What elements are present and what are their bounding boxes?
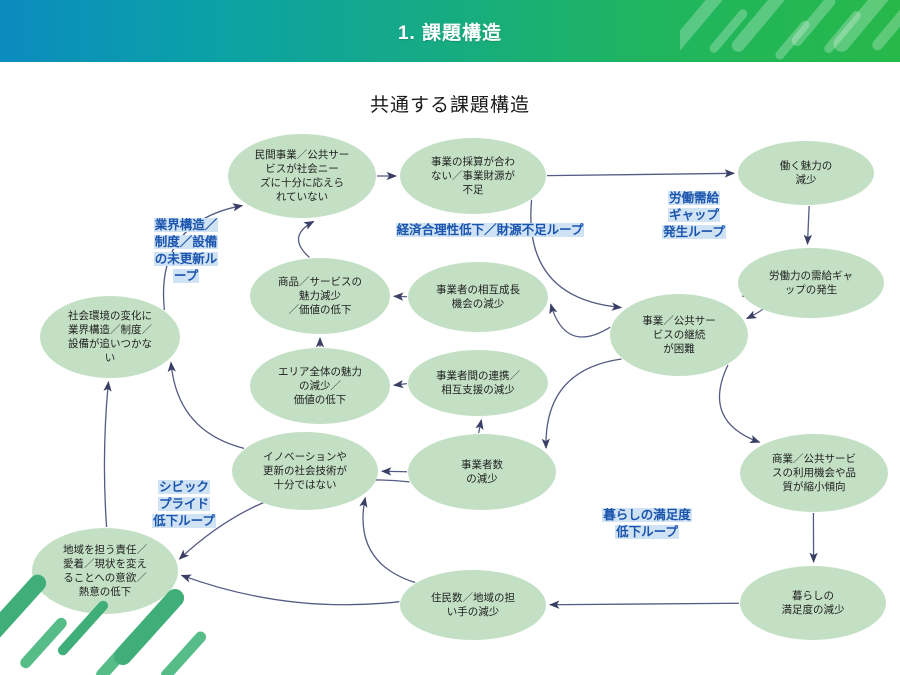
loop-label-satisfaction: 暮らしの満足度低下ループ: [582, 507, 712, 541]
diagram-edge: [104, 382, 108, 527]
diagram-node-industry_lag[interactable]: 社会環境の変化に 業界構造／制度／ 設備が追いつかな い: [40, 296, 180, 378]
diagram-node-service_access[interactable]: 商業／公共サービ スの利用機会や品 質が縮小傾向: [740, 434, 888, 512]
diagram-edge: [171, 362, 244, 448]
diagram-node-civic_pride[interactable]: 地域を担う責任／ 愛着／現状を変え ることへの意欲／ 熱意の低下: [32, 528, 178, 614]
diagram-edge: [299, 221, 314, 257]
loop-label-econ_finance: 経済合理性低下／財源不足ループ: [370, 222, 610, 239]
diagram-edge: [382, 471, 407, 472]
loop-label-civic_pride: シビックプライド低下ループ: [140, 479, 228, 530]
diagram-edge: [546, 359, 622, 448]
diagram-edge: [479, 420, 482, 433]
diagram-edge: [808, 206, 810, 244]
diagram-edge: [363, 498, 415, 583]
diagram-edge: [182, 575, 400, 604]
diagram-edge: [394, 296, 407, 297]
diagram-edge: [394, 384, 407, 386]
diagram-node-satisfaction[interactable]: 暮らしの 満足度の減少: [740, 566, 886, 640]
diagram-node-operator_count[interactable]: 事業者数 の減少: [408, 434, 556, 510]
diagram-edge: [550, 603, 739, 605]
causal-loop-diagram: 民間事業／公共サー ビスが社会ニー ズに十分に応えら れていない事業の採算が合わ…: [0, 0, 900, 675]
loop-label-labor_gap: 労働需給ギャップ発生ループ: [650, 190, 738, 241]
diagram-node-unmet_needs[interactable]: 民間事業／公共サー ビスが社会ニー ズに十分に応えら れていない: [228, 134, 376, 218]
diagram-node-work_appeal[interactable]: 働く魅力の 減少: [738, 141, 874, 205]
diagram-node-service_continuity[interactable]: 事業／公共サー ビスの継続 が困難: [610, 294, 748, 376]
diagram-edge: [719, 365, 759, 442]
diagram-node-growth_opp[interactable]: 事業者の相互成長 機会の減少: [408, 262, 548, 332]
loop-label-industry_renewal: 業界構造／制度／設備の未更新ループ: [148, 217, 224, 285]
diagram-node-collaboration[interactable]: 事業者間の連携／ 相互支援の減少: [408, 350, 548, 416]
diagram-node-profitability[interactable]: 事業の採算が合わ ない／事業財源が 不足: [400, 138, 546, 214]
diagram-node-area_value[interactable]: エリア全体の魅力 の減少／ 価値の低下: [250, 348, 390, 424]
diagram-node-product_value[interactable]: 商品／サービスの 魅力減少 ／価値の低下: [250, 258, 390, 334]
diagram-node-population[interactable]: 住民数／地域の担 い手の減少: [400, 570, 546, 640]
diagram-node-labor_gap[interactable]: 労働力の需給ギャ ップの発生: [738, 248, 884, 318]
diagram-node-innovation[interactable]: イノベーションや 更新の社会技術が 十分ではない: [232, 432, 378, 510]
diagram-edge: [551, 304, 611, 337]
diagram-edge: [547, 173, 734, 175]
